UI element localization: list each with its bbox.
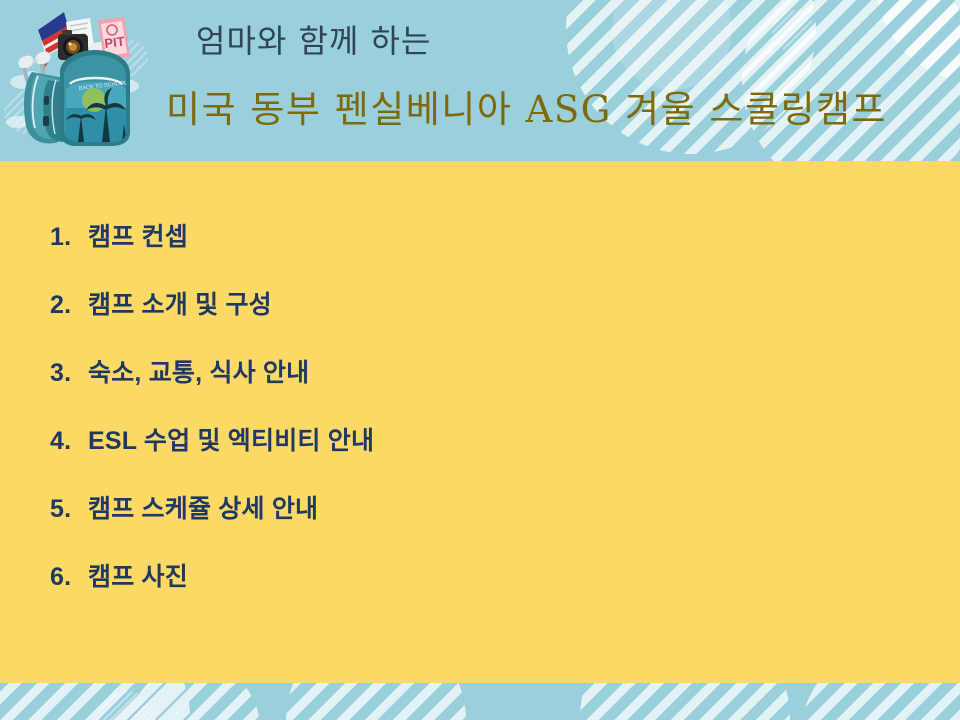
list-item-label: 캠프 사진 [88,557,188,593]
list-item[interactable]: 6. 캠프 사진 [50,557,374,625]
agenda-list: 1. 캠프 컨셉 2. 캠프 소개 및 구성 3. 숙소, 교통, 식사 안내 … [50,217,374,625]
slide-header: PIT [0,0,960,161]
decorative-striped-circle [772,10,814,52]
list-item[interactable]: 1. 캠프 컨셉 [50,217,374,285]
presentation-slide: PIT [0,0,960,720]
decorative-striped-circle [286,683,466,720]
list-item-label: 숙소, 교통, 식사 안내 [88,353,309,389]
list-item-number: 3. [50,359,88,388]
list-item[interactable]: 5. 캠프 스케쥴 상세 안내 [50,489,374,557]
slide-title: 미국 동부 펜실베니아 ASG 겨울 스쿨링캠프 [166,79,887,133]
travel-backpack-illustration: PIT [2,0,152,155]
svg-text:PIT: PIT [104,34,126,51]
slide-subtitle: 엄마와 함께 하는 [196,16,431,62]
list-item[interactable]: 4. ESL 수업 및 엑티비티 안내 [50,421,374,489]
list-item-number: 2. [50,291,88,320]
list-item-number: 1. [50,223,88,252]
list-item-label: 캠프 컨셉 [88,217,188,253]
list-item-label: 캠프 소개 및 구성 [88,285,272,321]
list-item-number: 4. [50,427,88,456]
list-item[interactable]: 3. 숙소, 교통, 식사 안내 [50,353,374,421]
slide-footer [0,683,960,720]
list-item[interactable]: 2. 캠프 소개 및 구성 [50,285,374,353]
decorative-striped-circle [800,683,960,720]
list-item-number: 5. [50,495,88,524]
list-item-label: ESL 수업 및 엑티비티 안내 [88,421,374,457]
decorative-striped-circle [580,683,790,720]
list-item-label: 캠프 스케쥴 상세 안내 [88,489,318,525]
slide-body: 1. 캠프 컨셉 2. 캠프 소개 및 구성 3. 숙소, 교통, 식사 안내 … [0,161,960,683]
list-item-number: 6. [50,563,88,592]
